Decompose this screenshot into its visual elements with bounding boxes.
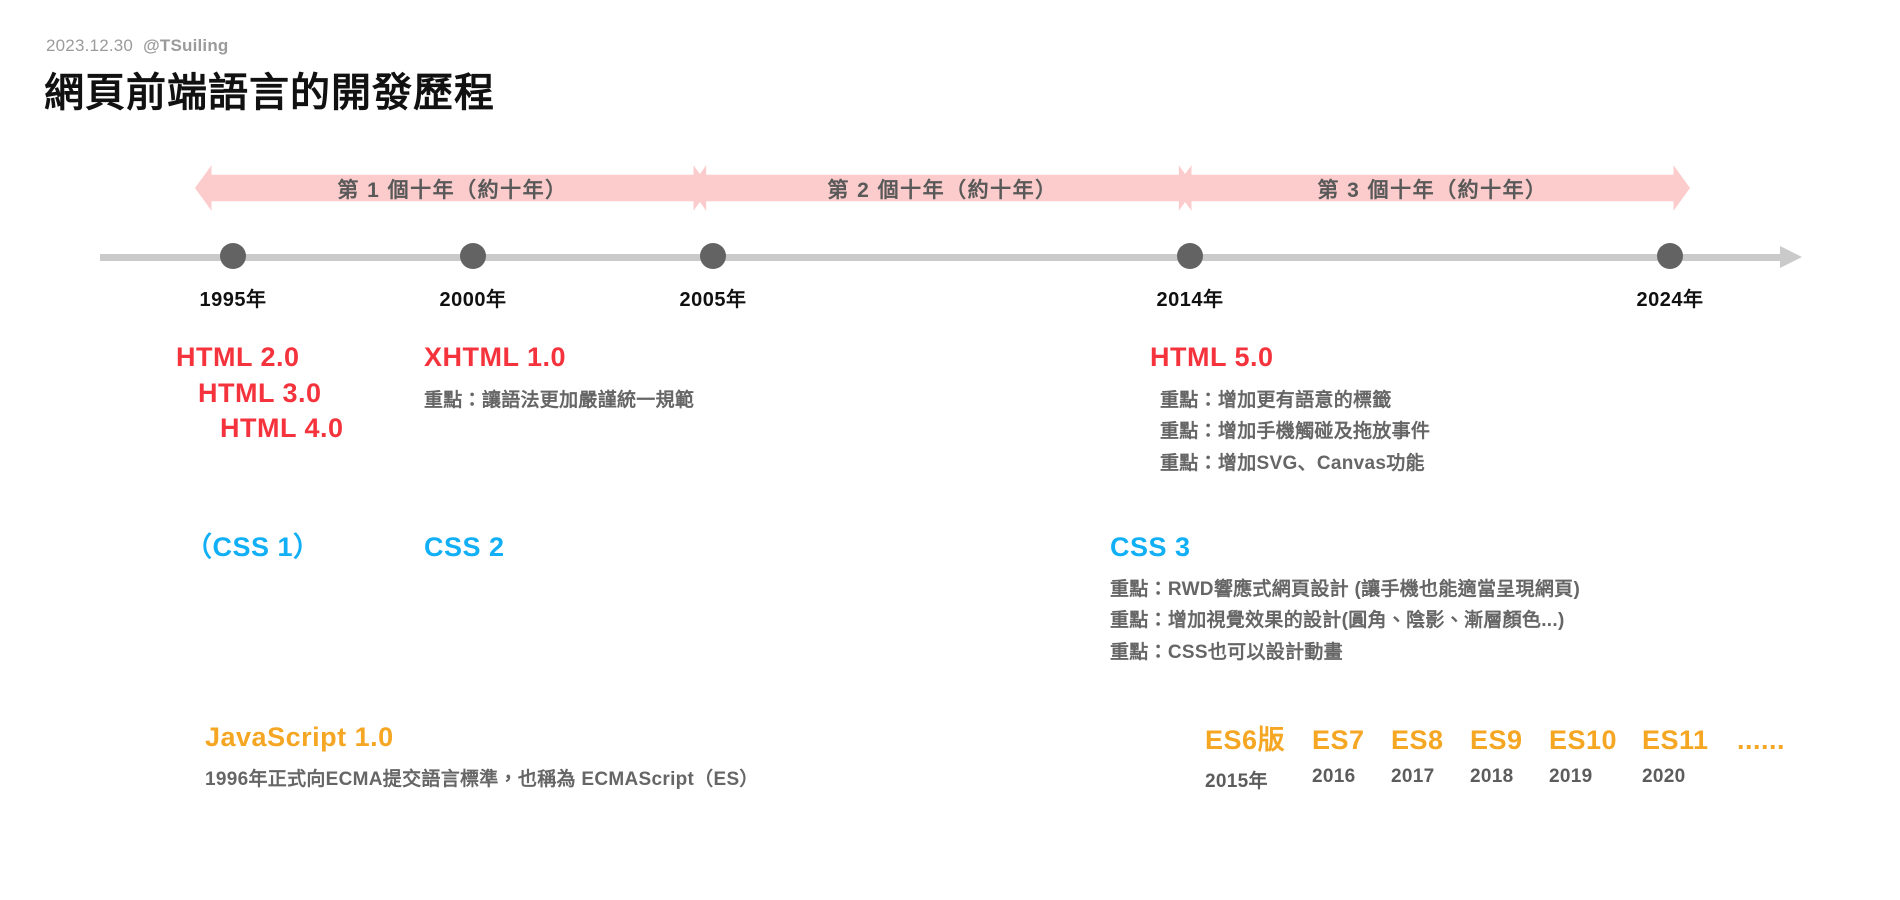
- es-names-row: ES6版 ES7 ES8 ES9 ES10 ES11 ......: [1205, 718, 1785, 757]
- es-name-10: ES10: [1549, 725, 1642, 756]
- es-years-row: 2015年 2016 2017 2018 2019 2020: [1205, 766, 1785, 793]
- axis-arrowhead-icon: [1780, 246, 1802, 268]
- es-name-6: ES6版: [1205, 718, 1312, 757]
- byline-handle: @TSuiling: [143, 36, 228, 55]
- es-name-8: ES8: [1391, 725, 1470, 756]
- es-name-7: ES7: [1312, 725, 1391, 756]
- axis-year-2024: 2024年: [1637, 283, 1704, 312]
- html-3-label: HTML 3.0: [176, 376, 344, 412]
- xhtml-title: XHTML 1.0: [424, 340, 694, 375]
- axis-dot-2000: [460, 243, 486, 269]
- es-year-11: 2020: [1642, 766, 1737, 793]
- css1-title: （CSS 1）: [185, 530, 321, 565]
- html5-block: HTML 5.0 重點：增加更有語意的標籤 重點：增加手機觸碰及拖放事件 重點：…: [1150, 340, 1430, 480]
- decade-arrow-2: 第 2 個十年（約十年）: [690, 158, 1195, 218]
- axis-year-2014: 2014年: [1157, 283, 1224, 312]
- css3-block: CSS 3 重點：RWD響應式網頁設計 (讓手機也能適當呈現網頁) 重點：增加視…: [1110, 530, 1580, 669]
- axis-dot-1995: [220, 243, 246, 269]
- decade-arrow-3: 第 3 個十年（約十年）: [1175, 158, 1690, 218]
- html5-note-3: 重點：增加SVG、Canvas功能: [1150, 448, 1430, 480]
- es-year-10: 2019: [1549, 766, 1642, 793]
- axis-dot-2005: [700, 243, 726, 269]
- axis-line: [100, 254, 1780, 261]
- html-4-label: HTML 4.0: [176, 411, 344, 447]
- axis-dot-2014: [1177, 243, 1203, 269]
- es-year-8: 2017: [1391, 766, 1470, 793]
- xhtml-note-1: 重點：讓語法更加嚴謹統一規範: [424, 385, 694, 417]
- html5-note-2: 重點：增加手機觸碰及拖放事件: [1150, 416, 1430, 448]
- decade-band: 第 1 個十年（約十年） 第 2 個十年（約十年） 第 3 個十年（約十年）: [0, 158, 1900, 218]
- byline: 2023.12.30@TSuiling: [46, 36, 229, 56]
- css3-note-1: 重點：RWD響應式網頁設計 (讓手機也能適當呈現網頁): [1110, 574, 1580, 606]
- css1-block: （CSS 1）: [185, 530, 321, 565]
- es-name-9: ES9: [1470, 725, 1549, 756]
- timeline-axis: [100, 252, 1800, 262]
- es-name-11: ES11: [1642, 725, 1737, 756]
- axis-year-2005: 2005年: [680, 283, 747, 312]
- es-year-7: 2016: [1312, 766, 1391, 793]
- decade-label-1: 第 1 個十年（約十年）: [337, 174, 567, 204]
- axis-year-2000: 2000年: [440, 283, 507, 312]
- css2-block: CSS 2: [424, 530, 505, 565]
- es-year-9: 2018: [1470, 766, 1549, 793]
- javascript-block: JavaScript 1.0 1996年正式向ECMA提交語言標準，也稱為 EC…: [205, 720, 759, 795]
- css3-note-2: 重點：增加視覺效果的設計(圓角、陰影、漸層顏色...): [1110, 605, 1580, 637]
- byline-date: 2023.12.30: [46, 36, 133, 55]
- javascript-title: JavaScript 1.0: [205, 720, 759, 755]
- html5-title: HTML 5.0: [1150, 340, 1430, 375]
- es-year-6: 2015年: [1205, 766, 1312, 793]
- html-2-label: HTML 2.0: [176, 340, 344, 376]
- axis-year-1995: 1995年: [200, 283, 267, 312]
- decade-label-2: 第 2 個十年（約十年）: [827, 174, 1057, 204]
- es-versions-block: ES6版 ES7 ES8 ES9 ES10 ES11 ...... 2015年 …: [1205, 718, 1785, 793]
- infographic-canvas: 2023.12.30@TSuiling 網頁前端語言的開發歷程 第 1 個十年（…: [0, 0, 1900, 900]
- decade-arrow-1: 第 1 個十年（約十年）: [195, 158, 710, 218]
- html-early-versions-block: HTML 2.0 HTML 3.0 HTML 4.0: [176, 340, 344, 447]
- css3-note-3: 重點：CSS也可以設計動畫: [1110, 637, 1580, 669]
- axis-dot-2024: [1657, 243, 1683, 269]
- es-name-ellipsis: ......: [1737, 725, 1785, 756]
- html5-note-1: 重點：增加更有語意的標籤: [1150, 385, 1430, 417]
- xhtml-block: XHTML 1.0 重點：讓語法更加嚴謹統一規範: [424, 340, 694, 416]
- decade-label-3: 第 3 個十年（約十年）: [1317, 174, 1547, 204]
- javascript-note-1: 1996年正式向ECMA提交語言標準，也稱為 ECMAScript（ES）: [205, 764, 759, 796]
- page-title: 網頁前端語言的開發歷程: [44, 60, 495, 118]
- css3-title: CSS 3: [1110, 530, 1580, 565]
- css2-title: CSS 2: [424, 530, 505, 565]
